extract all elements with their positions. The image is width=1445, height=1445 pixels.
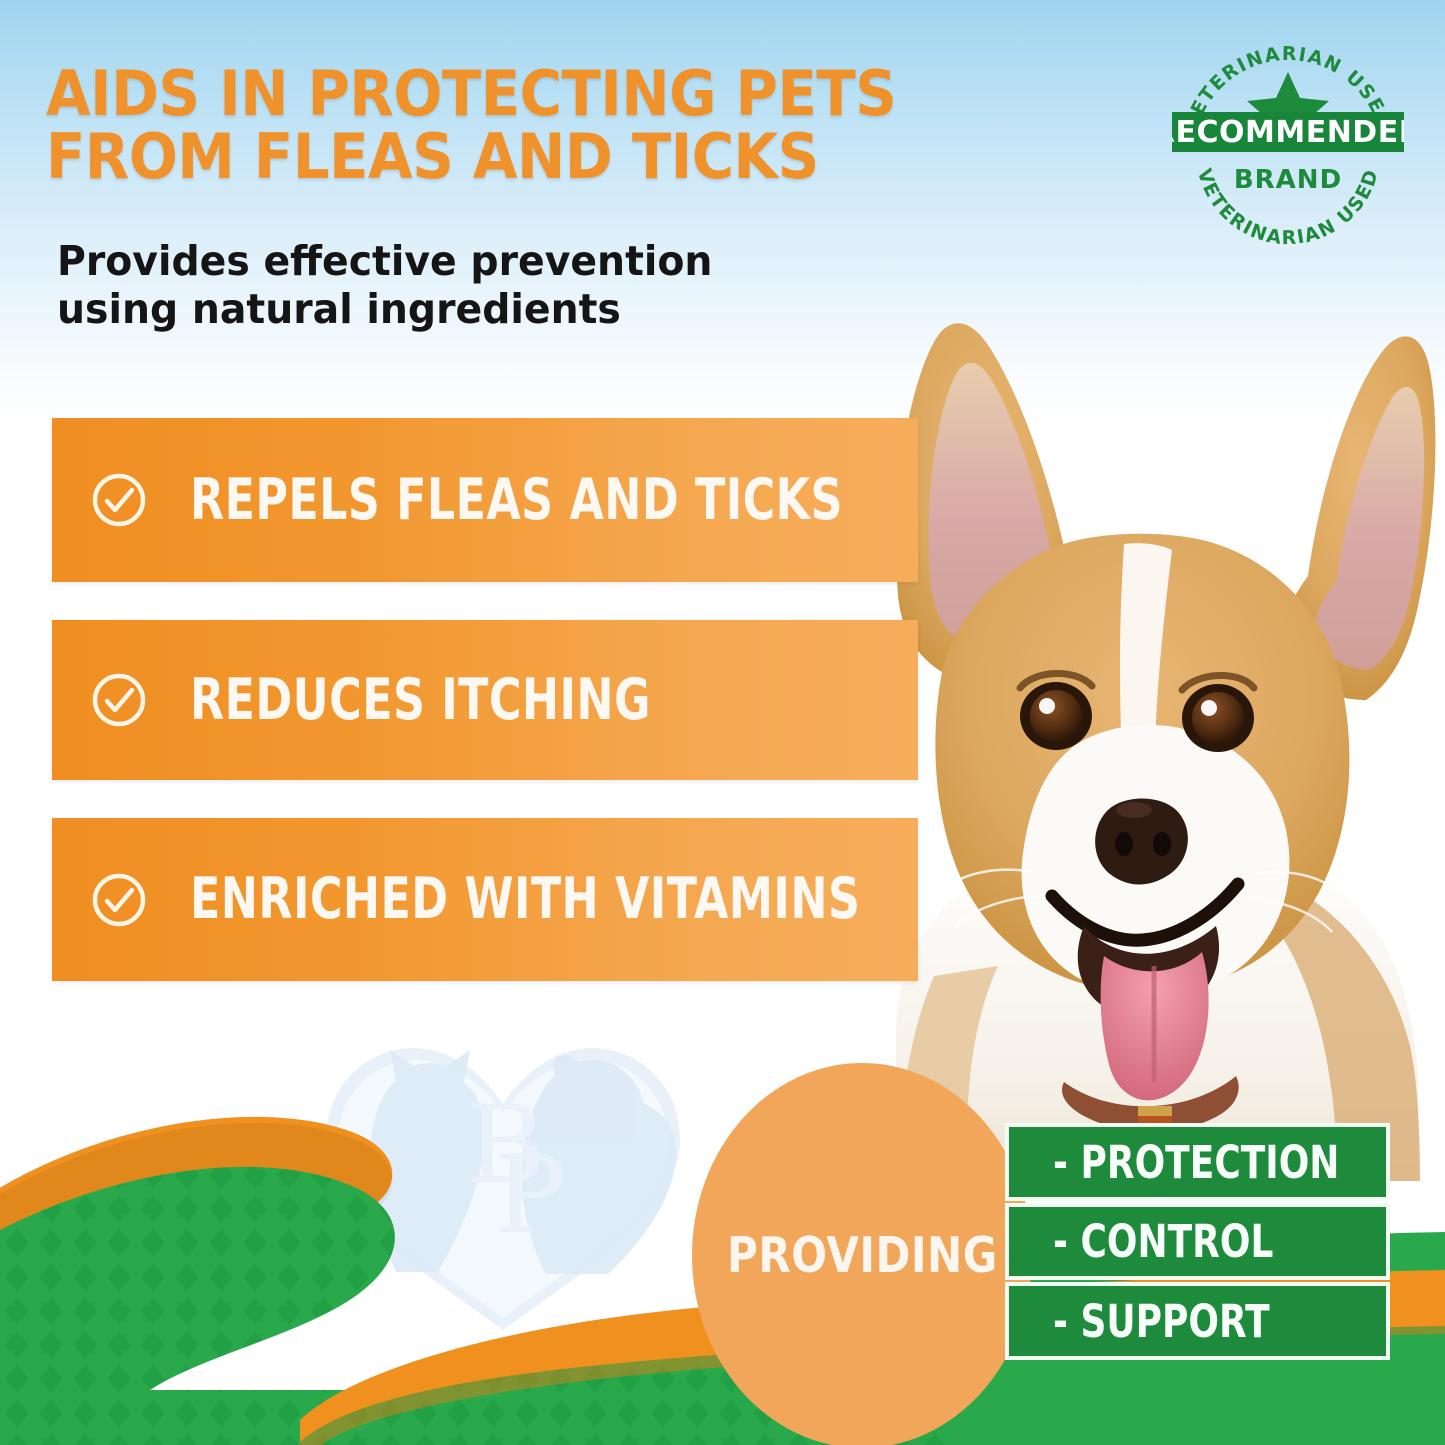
check-circle-icon	[90, 471, 148, 529]
page-title: AIDS IN PROTECTING PETS FROM FLEAS AND T…	[46, 62, 930, 188]
feature-bar-label: REPELS FLEAS AND TICKS	[190, 472, 843, 529]
badge-banner-text: RECOMMENDED	[1172, 115, 1404, 150]
subhead-line-1: Provides effective prevention	[57, 237, 712, 285]
badge-sub-text: BRAND	[1234, 165, 1342, 195]
feature-bar-label: REDUCES ITCHING	[190, 672, 651, 729]
providing-item-control: - CONTROL	[1005, 1203, 1390, 1280]
infographic-canvas: B P	[0, 0, 1445, 1445]
corgi-dog-photo	[838, 276, 1445, 1181]
feature-bar-label: ENRICHED WITH VITAMINS	[190, 871, 860, 928]
feature-bar-repels-fleas-and-ticks: REPELS FLEAS AND TICKS	[52, 418, 918, 582]
feature-bar-enriched-with-vitamins: ENRICHED WITH VITAMINS	[52, 818, 918, 981]
providing-item-label: - SUPPORT	[1053, 1299, 1270, 1344]
providing-item-support: - SUPPORT	[1005, 1282, 1390, 1360]
page-subtitle: Provides effective prevention using natu…	[57, 237, 767, 334]
subhead-line-2: using natural ingredients	[57, 285, 621, 333]
providing-label: PROVIDING	[727, 1227, 998, 1284]
headline-line-2: FROM FLEAS AND TICKS	[46, 125, 930, 188]
check-circle-icon	[90, 671, 148, 729]
feature-bar-reduces-itching: REDUCES ITCHING	[52, 620, 918, 780]
providing-item-label: - CONTROL	[1053, 1219, 1273, 1264]
vet-recommended-badge: VETERINARIAN USED VETERINARIAN USED RECO…	[1172, 36, 1404, 248]
providing-badge: PROVIDING	[692, 1063, 1032, 1445]
providing-item-protection: - PROTECTION	[1005, 1123, 1390, 1201]
headline-line-1: AIDS IN PROTECTING PETS	[46, 57, 896, 130]
providing-item-label: - PROTECTION	[1053, 1140, 1339, 1185]
check-circle-icon	[90, 871, 148, 929]
